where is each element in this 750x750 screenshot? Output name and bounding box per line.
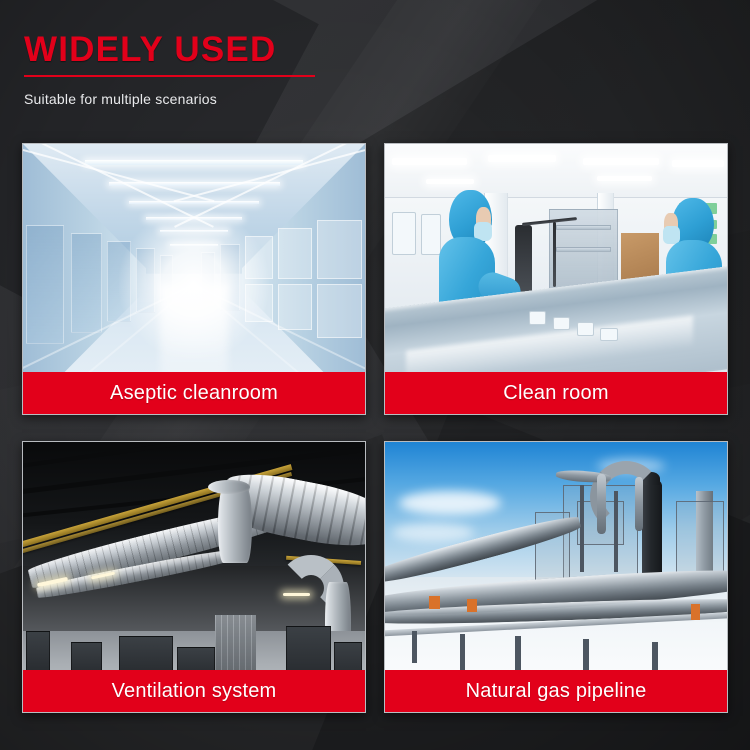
- card-caption-aseptic-cleanroom: Aseptic cleanroom: [23, 372, 365, 414]
- cleanroom-window-panel: [278, 228, 312, 279]
- cloud: [392, 523, 474, 542]
- ceiling-light-tube: [583, 158, 658, 165]
- card-caption-natural-gas-pipeline: Natural gas pipeline: [385, 670, 727, 712]
- pipe-support-leg: [412, 631, 417, 663]
- bench-component: [577, 322, 594, 336]
- scenario-card-ventilation-system[interactable]: Ventilation system: [22, 441, 366, 713]
- cleanroom-window-panel: [278, 284, 312, 330]
- cleanroom-ceiling-lamp: [85, 160, 304, 165]
- bench-component: [600, 328, 617, 342]
- cleanroom-vanishing-point: [119, 209, 269, 359]
- card-caption-clean-room: Clean room: [385, 372, 727, 414]
- machine-arm: [553, 222, 556, 287]
- cleanroom-door: [26, 225, 64, 344]
- page-title: WIDELY USED: [24, 32, 424, 67]
- page-subtitle: Suitable for multiple scenarios: [24, 91, 424, 107]
- title-underline: [24, 75, 315, 77]
- cleanroom-ceiling-lamp: [109, 182, 280, 186]
- cloud: [399, 491, 502, 515]
- orange-pipe-marker: [429, 596, 439, 610]
- equipment-rack: [556, 225, 611, 230]
- orange-pipe-marker: [691, 604, 700, 620]
- ceiling-light-tube: [426, 179, 474, 184]
- card-caption-ventilation-system: Ventilation system: [23, 670, 365, 712]
- bench-component: [553, 317, 570, 331]
- cleanroom-window-panel: [317, 220, 361, 279]
- ceiling-light-tube: [392, 158, 467, 165]
- duct-riser: [218, 488, 252, 564]
- scenario-card-clean-room[interactable]: Clean room: [384, 143, 728, 415]
- orange-pipe-marker: [467, 599, 477, 613]
- cleanroom-door: [71, 233, 102, 333]
- scenario-card-grid: Aseptic cleanroom: [22, 143, 728, 713]
- bench-component: [529, 311, 546, 325]
- ceiling-light-tube: [597, 176, 652, 181]
- worker-face-mask: [663, 226, 679, 244]
- pipe-support-leg: [460, 634, 465, 672]
- scenario-card-aseptic-cleanroom[interactable]: Aseptic cleanroom: [22, 143, 366, 415]
- equipment-rack: [556, 247, 611, 252]
- overhead-pipe: [597, 474, 606, 533]
- scenario-card-natural-gas-pipeline[interactable]: Natural gas pipeline: [384, 441, 728, 713]
- overhead-pipe: [635, 477, 643, 531]
- ceiling-light-tube: [672, 160, 723, 167]
- cleanroom-ceiling-lamp: [129, 201, 259, 204]
- pipe-support-column: [614, 491, 618, 572]
- duct-riser-cap: [208, 480, 250, 494]
- widely-used-poster: WIDELY USED Suitable for multiple scenar…: [0, 0, 750, 750]
- work-light: [283, 593, 310, 596]
- pipe-support-column: [580, 485, 584, 571]
- ceiling-light-tube: [488, 155, 556, 162]
- wall-document: [392, 212, 416, 255]
- cleanroom-window-panel: [317, 284, 361, 338]
- header: WIDELY USED Suitable for multiple scenar…: [24, 32, 424, 107]
